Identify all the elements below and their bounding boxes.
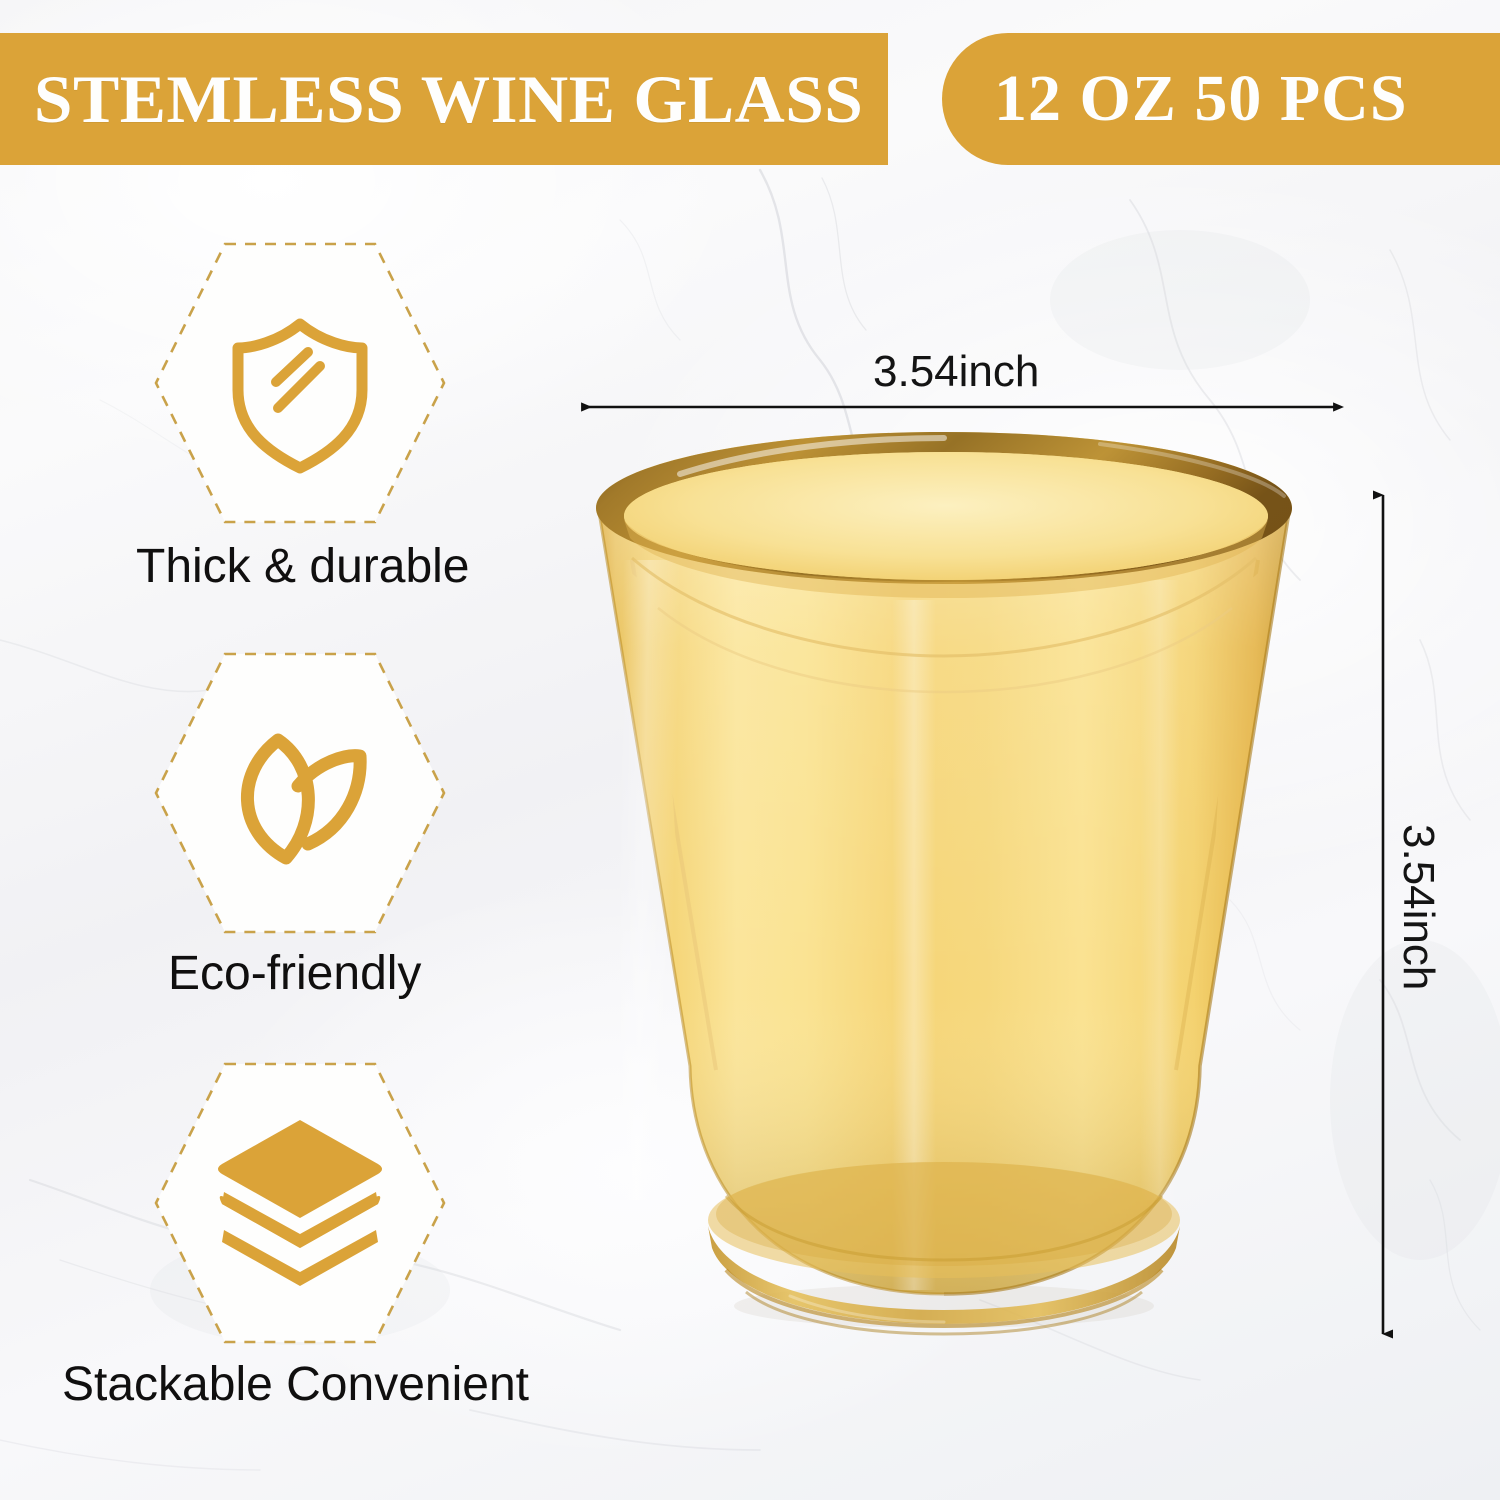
shield-icon [150, 238, 450, 528]
feature-label-eco-friendly: Eco-friendly [168, 950, 421, 998]
product-image-stemless-wine-glass [540, 430, 1400, 1390]
title-banner: STEMLESS WINE GLASS [0, 33, 888, 165]
hex-frame-stack [150, 1058, 450, 1348]
quantity-badge: 12 OZ 50 PCS [942, 33, 1500, 165]
width-dimension-label: 3.54inch [873, 350, 1039, 394]
stack-layers-icon [150, 1058, 450, 1348]
quantity-badge-label: 12 OZ 50 PCS [994, 66, 1408, 132]
height-dimension-label: 3.54inch [1396, 824, 1440, 990]
hex-frame-shield [150, 238, 450, 528]
page-title: STEMLESS WINE GLASS [34, 65, 864, 133]
feature-label-stackable: Stackable Convenient [62, 1361, 529, 1409]
leaf-icon [150, 648, 450, 938]
infographic-canvas: STEMLESS WINE GLASS 12 OZ 50 PCS Thick &… [0, 0, 1500, 1500]
hex-frame-leaf [150, 648, 450, 938]
feature-label-thick-durable: Thick & durable [136, 543, 470, 591]
